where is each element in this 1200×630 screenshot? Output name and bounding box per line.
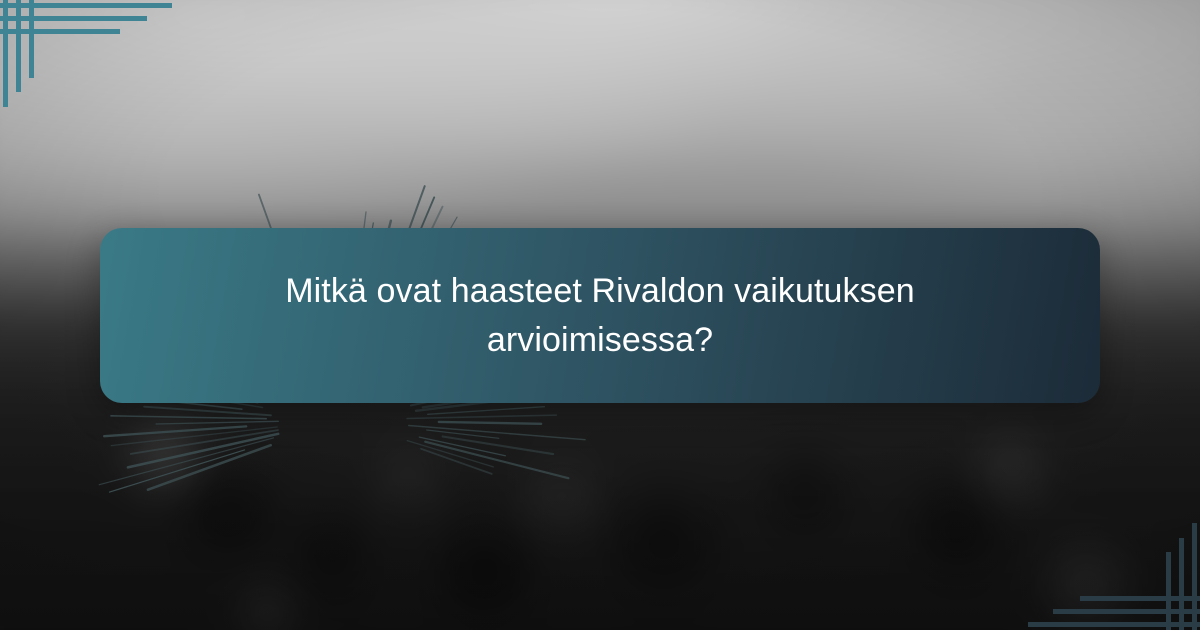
title-card: Mitkä ovat haasteet Rivaldon vaikutuksen… bbox=[100, 228, 1100, 403]
page-title: Mitkä ovat haasteet Rivaldon vaikutuksen… bbox=[164, 267, 1036, 365]
social-card-canvas: Mitkä ovat haasteet Rivaldon vaikutuksen… bbox=[0, 0, 1200, 630]
